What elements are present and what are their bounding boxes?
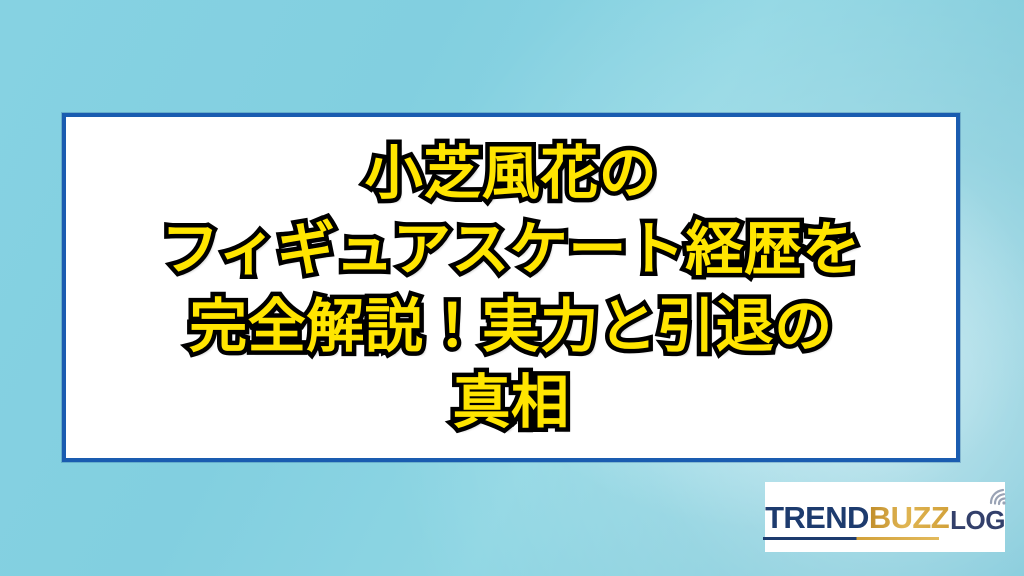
logo-text-log: LOG [950,507,1005,533]
title-line-1: 小芝風花の [74,134,948,211]
logo-text-trend: TREND [765,502,869,533]
thumbnail-canvas: 小芝風花の フィギュアスケート経歴を 完全解説！実力と引退の 真相 TREND … [0,0,1024,576]
title-card: 小芝風花の フィギュアスケート経歴を 完全解説！実力と引退の 真相 [62,113,960,462]
logo-wordmark: TREND BUZZ LOG [765,502,1005,533]
title-line-3: 完全解説！実力と引退の [74,288,948,365]
logo-inner: TREND BUZZ LOG [759,502,1011,533]
logo-text-buzz: BUZZ [869,502,949,533]
title-text-block: 小芝風花の フィギュアスケート経歴を 完全解説！実力と引退の 真相 [66,134,956,440]
signal-waves-icon [985,482,1013,506]
title-line-2: フィギュアスケート経歴を [74,211,948,288]
logo-underline-rule [763,537,939,540]
title-line-4: 真相 [74,364,948,441]
site-logo[interactable]: TREND BUZZ LOG [765,482,1005,552]
